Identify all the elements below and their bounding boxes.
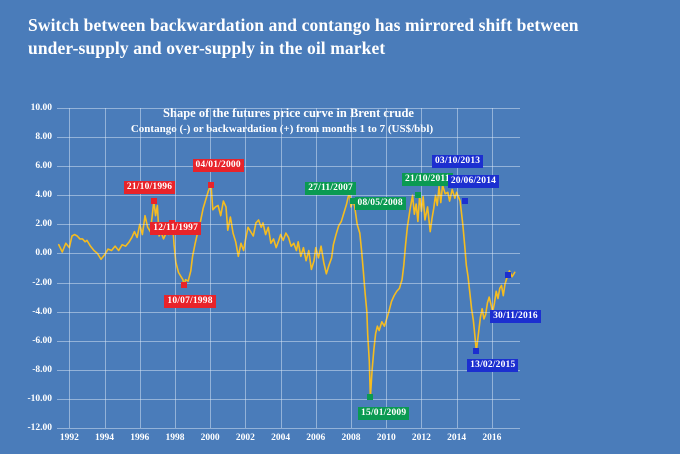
x-axis-tick-label: 2010 xyxy=(377,433,396,443)
y-axis-tick-label: 4.00 xyxy=(4,190,52,200)
gridline-vertical xyxy=(210,108,211,428)
y-axis-tick-label: -8.00 xyxy=(4,365,52,375)
plot-area: 21/10/199612/11/199710/07/199804/01/2000… xyxy=(57,108,520,428)
gridline-horizontal xyxy=(57,195,520,196)
annotation-marker xyxy=(415,192,421,198)
chart-container: Shape of the futures price curve in Bren… xyxy=(0,88,680,454)
annotation-label: 08/05/2008 xyxy=(355,197,406,210)
page-title: Switch between backwardation and contang… xyxy=(28,14,658,60)
annotation-label: 04/01/2000 xyxy=(193,159,244,172)
annotation-marker xyxy=(462,198,468,204)
y-axis-tick-label: -6.00 xyxy=(4,336,52,346)
gridline-vertical xyxy=(105,108,106,428)
gridline-horizontal xyxy=(57,370,520,371)
gridline-vertical xyxy=(351,108,352,428)
gridline-horizontal xyxy=(57,341,520,342)
annotation-label: 13/02/2015 xyxy=(467,359,518,372)
headline-line-1: Switch between backwardation and contang… xyxy=(28,14,658,37)
x-axis-tick-label: 1992 xyxy=(60,433,79,443)
x-axis-tick-label: 1996 xyxy=(130,433,149,443)
gridline-vertical xyxy=(69,108,70,428)
y-axis-tick-label: -2.00 xyxy=(4,278,52,288)
x-axis-tick-label: 1994 xyxy=(95,433,114,443)
headline-line-2: under-supply and over-supply in the oil … xyxy=(28,37,658,60)
gridline-horizontal xyxy=(57,312,520,313)
gridline-vertical xyxy=(140,108,141,428)
y-axis-tick-label: -4.00 xyxy=(4,307,52,317)
x-axis-tick-label: 2016 xyxy=(482,433,501,443)
y-axis-tick-label: 6.00 xyxy=(4,161,52,171)
x-axis-tick-label: 2014 xyxy=(447,433,466,443)
y-axis-tick-label: -12.00 xyxy=(4,423,52,433)
x-axis-tick-label: 1998 xyxy=(165,433,184,443)
x-axis-tick-label: 2000 xyxy=(201,433,220,443)
slide-canvas: Switch between backwardation and contang… xyxy=(0,0,680,454)
annotation-marker xyxy=(505,272,511,278)
y-axis-tick-label: 2.00 xyxy=(4,219,52,229)
x-axis-labels: 1992199419961998200020022004200620082010… xyxy=(57,433,520,449)
x-axis-tick-label: 2002 xyxy=(236,433,255,443)
x-axis-tick-label: 2004 xyxy=(271,433,290,443)
y-axis-tick-label: 10.00 xyxy=(4,103,52,113)
gridline-vertical xyxy=(492,108,493,428)
annotation-marker xyxy=(367,394,373,400)
annotation-label: 10/07/1998 xyxy=(164,295,215,308)
annotation-marker xyxy=(473,348,479,354)
annotation-marker xyxy=(181,282,187,288)
annotation-marker xyxy=(151,198,157,204)
gridline-vertical xyxy=(245,108,246,428)
x-axis-tick-label: 2006 xyxy=(306,433,325,443)
annotation-label: 21/10/1996 xyxy=(124,181,175,194)
data-line xyxy=(59,185,515,397)
x-axis-tick-label: 2012 xyxy=(412,433,431,443)
gridline-horizontal xyxy=(57,108,520,109)
gridline-horizontal xyxy=(57,253,520,254)
gridline-horizontal xyxy=(57,224,520,225)
annotation-label: 15/01/2009 xyxy=(358,407,409,420)
annotation-label: 03/10/2013 xyxy=(432,155,483,168)
annotation-label: 12/11/1997 xyxy=(150,222,201,235)
annotation-label: 21/10/2011 xyxy=(402,173,453,186)
gridline-horizontal xyxy=(57,137,520,138)
gridline-vertical xyxy=(175,108,176,428)
gridline-vertical xyxy=(421,108,422,428)
y-axis-labels: 10.008.006.004.002.000.00-2.00-4.00-6.00… xyxy=(0,108,52,428)
y-axis-tick-label: 0.00 xyxy=(4,248,52,258)
gridline-horizontal xyxy=(57,283,520,284)
annotation-label: 20/06/2014 xyxy=(448,175,499,188)
gridline-vertical xyxy=(281,108,282,428)
gridline-horizontal xyxy=(57,428,520,429)
gridline-vertical xyxy=(316,108,317,428)
x-axis-tick-label: 2008 xyxy=(341,433,360,443)
annotation-marker xyxy=(208,182,214,188)
annotation-label: 27/11/2007 xyxy=(305,182,356,195)
gridline-vertical xyxy=(386,108,387,428)
y-axis-tick-label: -10.00 xyxy=(4,394,52,404)
annotation-label: 30/11/2016 xyxy=(490,310,541,323)
gridline-horizontal xyxy=(57,399,520,400)
y-axis-tick-label: 8.00 xyxy=(4,132,52,142)
